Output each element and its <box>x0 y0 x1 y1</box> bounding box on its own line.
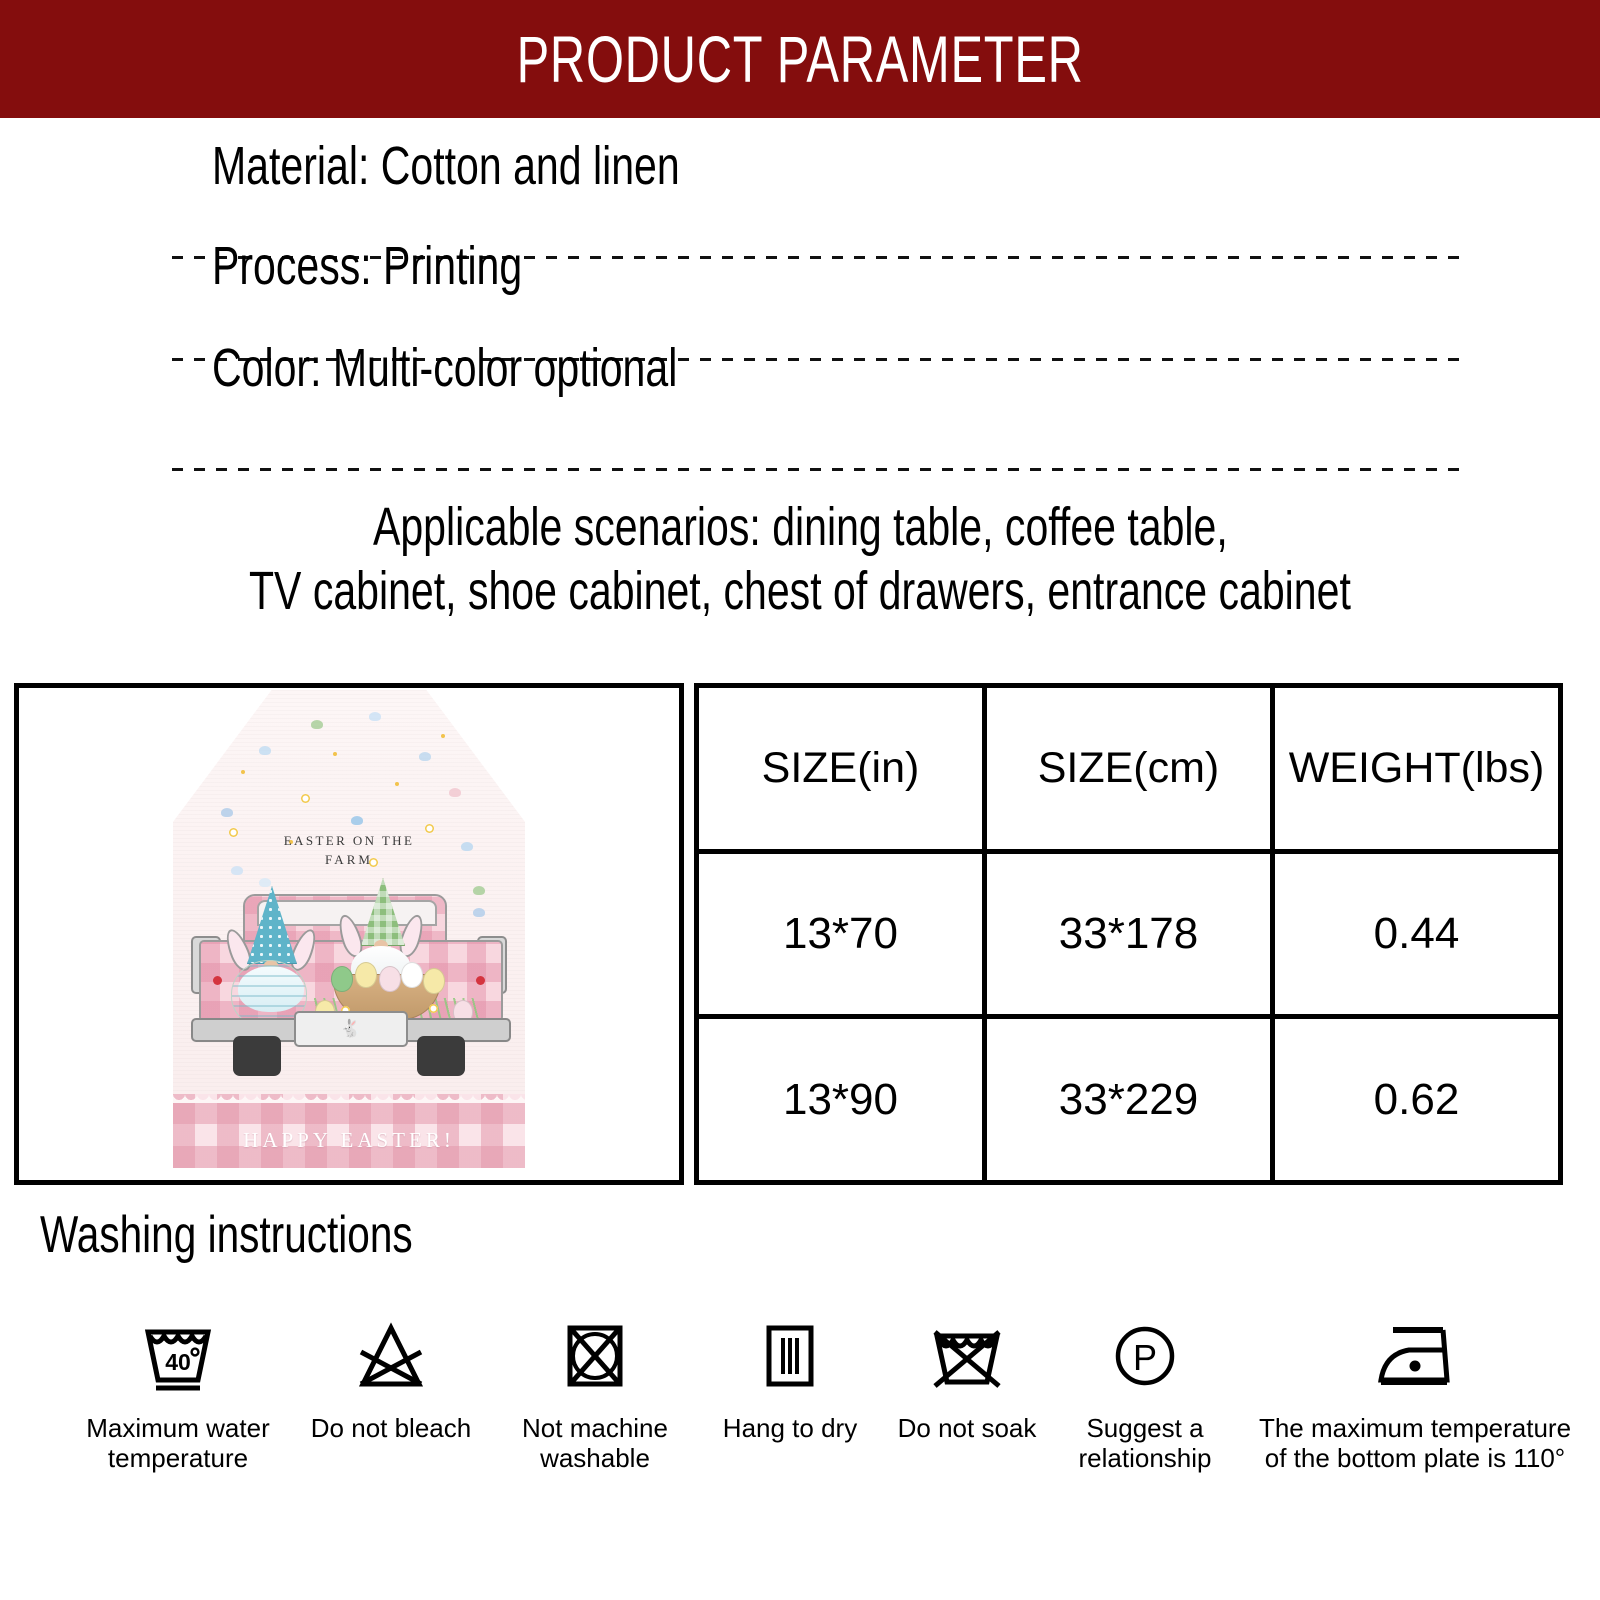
dry-clean-p-icon: P <box>1105 1318 1185 1401</box>
confetti-dot <box>241 770 245 774</box>
butterfly-icon <box>419 752 431 761</box>
butterfly-icon <box>221 808 233 817</box>
cell-size-in: 13*90 <box>699 1019 982 1180</box>
washing-label: Suggest a relationship <box>1079 1414 1212 1474</box>
svg-text:40: 40 <box>165 1349 191 1375</box>
daisy-icon <box>425 824 434 833</box>
table-row: 13*70 33*178 0.44 <box>699 849 1558 1015</box>
scenarios-text-1: Applicable scenarios: dining table, coff… <box>373 496 1228 558</box>
scenarios-line-2: TV cabinet, shoe cabinet, chest of drawe… <box>0 560 1600 622</box>
spec-divider-3 <box>172 468 1464 471</box>
product-image-cell: EASTER ON THE FARM <box>14 683 684 1185</box>
spec-row-material: Material: Cotton and linen <box>0 118 1600 214</box>
license-plate: 🐇 <box>294 1011 408 1047</box>
butterfly-icon <box>259 746 271 755</box>
runner-gingham-border: HAPPY EASTER! <box>173 1094 525 1168</box>
gnome-hat-blue <box>247 886 297 964</box>
easter-egg <box>331 966 353 992</box>
table-header-row: SIZE(in) SIZE(cm) WEIGHT(lbs) <box>699 688 1558 849</box>
truck-wheel-right <box>417 1036 465 1076</box>
daisy-icon <box>429 1004 438 1013</box>
confetti-dot <box>333 752 337 756</box>
washing-label: Maximum water temperature <box>86 1414 269 1474</box>
table-row: 13*90 33*229 0.62 <box>699 1014 1558 1180</box>
truck-wheel-left <box>233 1036 281 1076</box>
butterfly-icon <box>311 720 323 729</box>
spec-material-text: Material: Cotton and linen <box>212 135 680 197</box>
butterfly-icon <box>449 788 461 797</box>
gnome-hat-green <box>361 878 405 946</box>
basket-egg-cluster <box>329 960 447 986</box>
washing-label: The maximum temperature of the bottom pl… <box>1259 1414 1571 1474</box>
spec-row-color: Color: Multi-color optional <box>0 320 1600 416</box>
easter-egg <box>355 962 377 988</box>
washing-instructions-heading: Washing instructions <box>40 1205 413 1265</box>
scalloped-edge <box>173 1094 525 1103</box>
butterfly-icon <box>369 712 381 721</box>
cell-weight: 0.44 <box>1270 854 1558 1015</box>
specification-list: Material: Cotton and linen Process: Prin… <box>0 118 1600 416</box>
bunny-icon: 🐇 <box>340 1019 361 1039</box>
washing-label: Not machine washable <box>522 1414 668 1474</box>
spec-process-text: Process: Printing <box>212 235 522 297</box>
size-table-section: EASTER ON THE FARM <box>14 683 1563 1185</box>
svg-text:P: P <box>1133 1337 1157 1378</box>
iron-one-dot-icon <box>1363 1318 1467 1401</box>
washing-label: Do not bleach <box>311 1414 471 1444</box>
scenarios-text-2: TV cabinet, shoe cabinet, chest of drawe… <box>249 560 1351 622</box>
tail-light-right <box>476 976 485 985</box>
happy-easter-text: HAPPY EASTER! <box>173 1128 525 1153</box>
wash-tub-40-icon: 40 <box>138 1318 218 1401</box>
size-weight-table: SIZE(in) SIZE(cm) WEIGHT(lbs) 13*70 33*1… <box>694 683 1563 1185</box>
confetti-dot <box>395 782 399 786</box>
header-size-in: SIZE(in) <box>699 688 982 849</box>
cell-size-cm: 33*229 <box>982 1019 1270 1180</box>
table-runner-illustration: EASTER ON THE FARM <box>173 688 525 1168</box>
scenarios-line-1: Applicable scenarios: dining table, coff… <box>0 496 1600 558</box>
washing-label: Hang to dry <box>723 1414 857 1444</box>
runner-headline-line2: FARM <box>173 852 525 868</box>
easter-egg <box>379 966 401 992</box>
butterfly-icon <box>351 816 363 825</box>
page-title: PRODUCT PARAMETER <box>516 26 1083 92</box>
runner-headline-line1: EASTER ON THE <box>173 833 525 849</box>
no-bleach-triangle-icon <box>351 1318 431 1401</box>
tail-light-left <box>213 976 222 985</box>
daisy-icon <box>301 794 310 803</box>
page-header-banner: PRODUCT PARAMETER <box>0 0 1600 118</box>
do-not-soak-icon <box>927 1318 1007 1401</box>
washing-label: Do not soak <box>898 1414 1037 1444</box>
cell-size-in: 13*70 <box>699 854 982 1015</box>
runner-headline: EASTER ON THE FARM <box>173 833 525 868</box>
easter-egg <box>401 962 423 988</box>
confetti-dot <box>441 734 445 738</box>
cell-weight: 0.62 <box>1270 1019 1558 1180</box>
hang-to-dry-icon <box>750 1318 830 1401</box>
header-size-cm: SIZE(cm) <box>982 688 1270 849</box>
easter-egg <box>423 968 445 994</box>
no-machine-wash-icon <box>555 1318 635 1401</box>
spec-color-text: Color: Multi-color optional <box>212 337 677 399</box>
header-weight-lbs: WEIGHT(lbs) <box>1270 688 1558 849</box>
pickup-truck-illustration: 🐇 <box>191 878 507 1068</box>
cell-size-cm: 33*178 <box>982 854 1270 1015</box>
runner-fabric: EASTER ON THE FARM <box>173 690 525 1102</box>
spec-row-process: Process: Printing <box>0 218 1600 314</box>
